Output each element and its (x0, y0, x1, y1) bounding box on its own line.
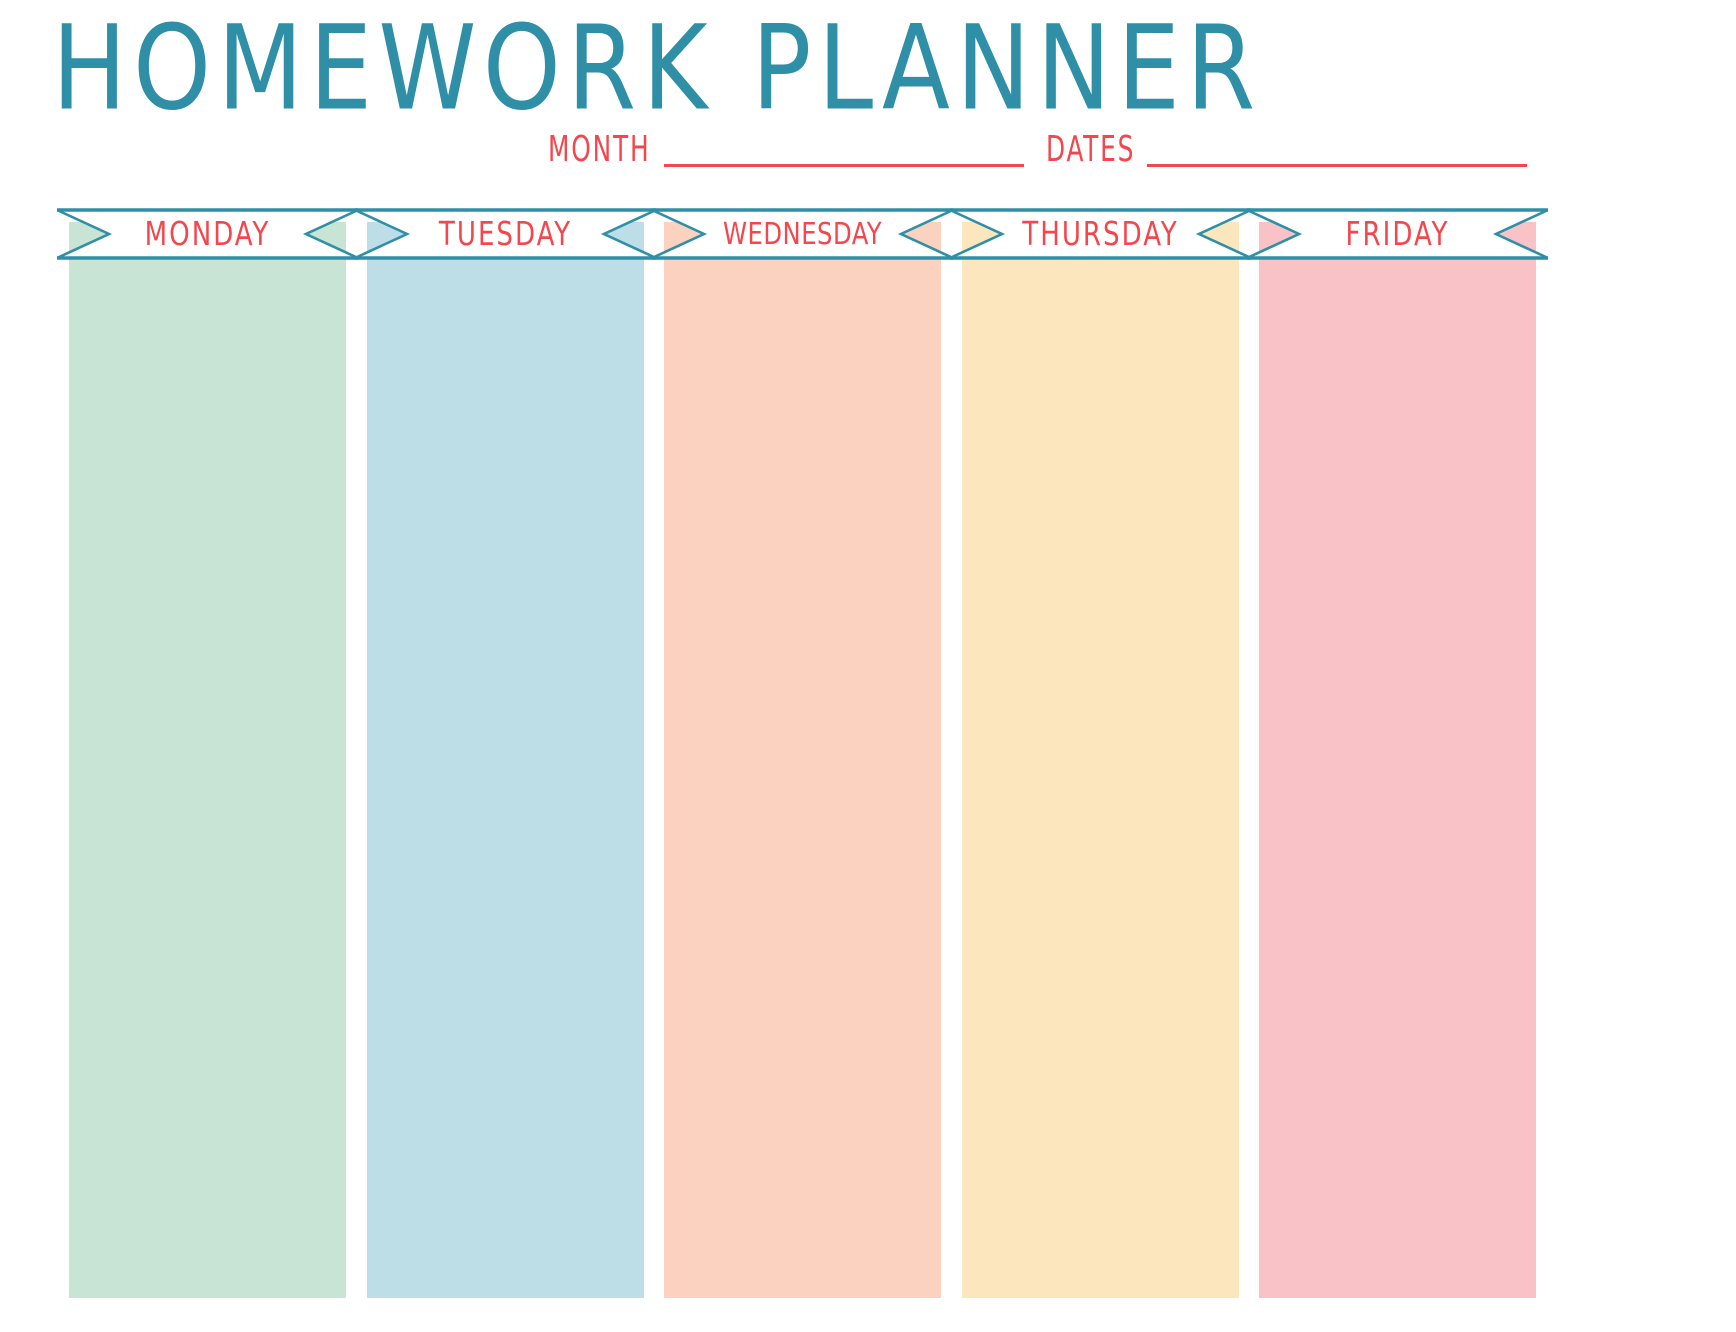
dates-write-line[interactable] (1147, 164, 1527, 167)
dates-field[interactable]: DATES (1046, 132, 1527, 168)
day-column: MONDAY (69, 222, 346, 1298)
day-banner: MONDAY (57, 208, 358, 260)
month-label: MONTH (548, 133, 651, 168)
day-column: WEDNESDAY (664, 222, 941, 1298)
day-column: THURSDAY (962, 222, 1239, 1298)
day-notes-area[interactable] (962, 222, 1239, 1298)
day-notes-area[interactable] (664, 222, 941, 1298)
page-title: HOMEWORK PLANNER (52, 2, 1112, 136)
meta-row: MONTH DATES (0, 132, 1736, 174)
planner-page: HOMEWORK PLANNER MONTH DATES MONDAYTUESD… (0, 0, 1736, 1332)
dates-label: DATES (1046, 133, 1135, 168)
day-banner: FRIDAY (1247, 208, 1548, 260)
month-field[interactable]: MONTH (548, 132, 1024, 168)
day-banner: TUESDAY (355, 208, 656, 260)
day-column: FRIDAY (1259, 222, 1536, 1298)
month-write-line[interactable] (664, 164, 1024, 167)
day-banner: WEDNESDAY (652, 208, 953, 260)
day-column: TUESDAY (367, 222, 644, 1298)
day-banner: THURSDAY (950, 208, 1251, 260)
day-notes-area[interactable] (1259, 222, 1536, 1298)
day-notes-area[interactable] (367, 222, 644, 1298)
day-notes-area[interactable] (69, 222, 346, 1298)
